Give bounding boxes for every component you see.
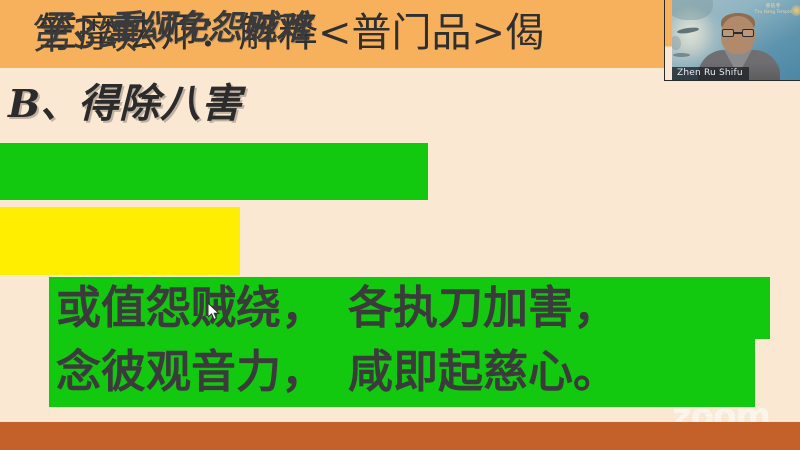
slide-bottom-bar [0,422,800,450]
temple-logo-watermark: 慈航寺 Tzu Hang Temple [755,5,792,14]
verse-line-1-second-half: 各执刀加害， [348,281,618,334]
verse-line-1-first-half: 或值怨贼绕， [56,281,326,334]
buddha-nose [671,36,681,50]
verse-line-1: 或值怨贼绕，各执刀加害， [56,277,786,339]
verse-text: 或值怨贼绕，各执刀加害， 念彼观音力，咸即起慈心。 [56,277,786,407]
section-heading-text: 得除八害 [78,80,242,127]
verse-label-highlight-band [0,207,240,275]
verse-line-2: 念彼观音力，咸即起慈心。 [56,339,786,407]
video-participant-tile[interactable]: 慈航寺 Tzu Hang Temple Zhen Ru Shifu [664,0,800,81]
sun-icon [791,5,800,16]
buddha-eye [677,26,699,34]
slide-bleed-strip [665,0,672,80]
verse-line-2-second-half: 咸即起慈心。 [348,345,618,398]
verse-label: 第3颂: [32,0,151,68]
verse-line-2-first-half: 念彼观音力， [56,345,326,398]
section-marker: B、 [8,81,78,126]
participant-name-label: Zhen Ru Shifu [672,67,749,80]
buddha-lip [673,53,690,57]
zoom-screen-share-window: 竺摩法师：解释<普门品>偈 B、得除八害 子、重颂免怨贼难 第3颂: 或值怨贼绕… [0,0,800,450]
slide-section-heading: B、得除八害 [8,70,428,138]
subheading-highlight-band [0,143,428,200]
glasses-icon [722,29,754,37]
buddha-hair [667,0,713,20]
temple-logo-english: Tzu Hang Temple [755,10,792,14]
